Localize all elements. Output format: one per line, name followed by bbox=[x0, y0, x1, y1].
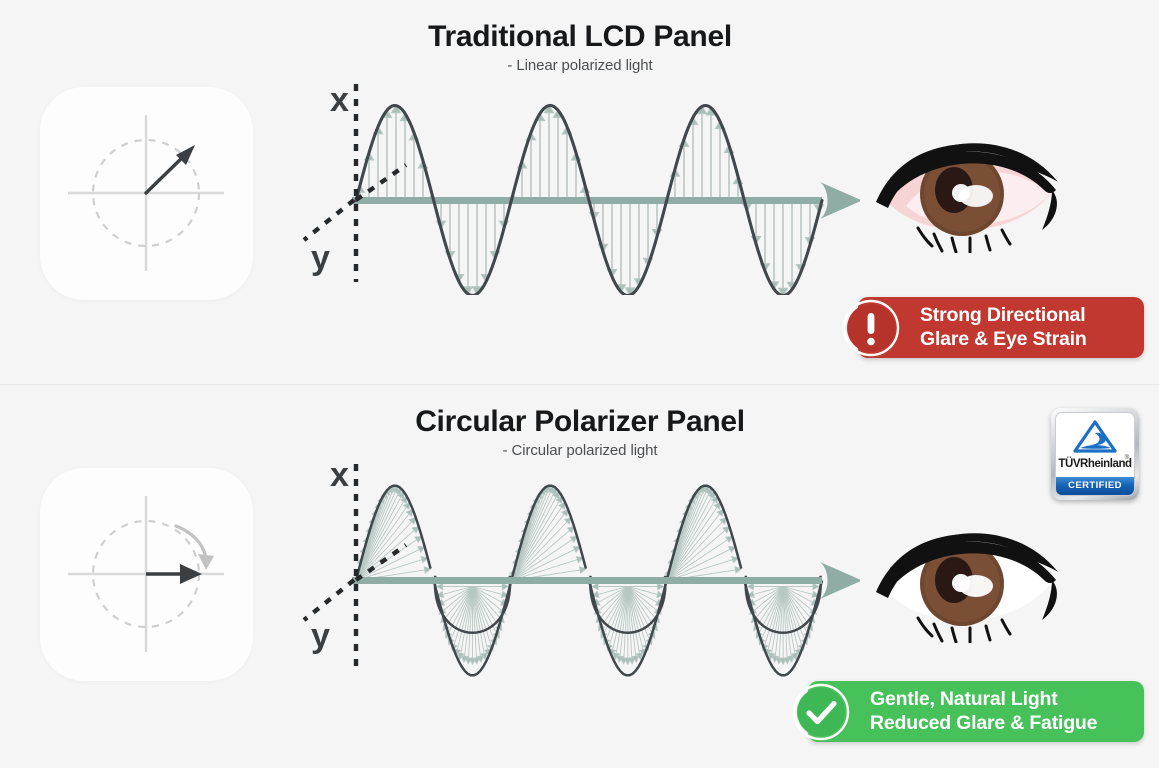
success-badge-line2: Reduced Glare & Fatigue bbox=[870, 712, 1097, 736]
axis-label-x-top: x bbox=[330, 83, 349, 117]
rotating-field-vectors bbox=[354, 486, 819, 665]
circular-wave-diagram bbox=[300, 460, 860, 690]
y-axis-dashed-line-left bbox=[304, 200, 354, 240]
linear-polarization-card bbox=[40, 87, 253, 300]
y-axis-dashed-line-left-2 bbox=[304, 580, 354, 620]
circular-polarization-card bbox=[40, 468, 253, 681]
panel-heading-bottom: Circular Polarizer Panel - Circular pola… bbox=[170, 405, 990, 459]
circular-polarization-icon bbox=[40, 468, 253, 681]
axis-label-x-bottom: x bbox=[330, 458, 349, 492]
tuv-rheinland-certified-badge[interactable]: TÜVRheinland ® CERTIFIED bbox=[1051, 408, 1139, 500]
healthy-eye-illustration bbox=[866, 518, 1066, 648]
certified-label: CERTIFIED bbox=[1056, 476, 1134, 495]
registered-mark: ® bbox=[1125, 455, 1129, 461]
page-subtitle: - Linear polarized light bbox=[170, 57, 990, 74]
linear-polarization-icon bbox=[40, 87, 253, 300]
panel-traditional-lcd: Traditional LCD Panel - Linear polarized… bbox=[0, 0, 1159, 385]
warning-badge-line1: Strong Directional bbox=[920, 304, 1087, 328]
axis-label-y-top: y bbox=[311, 241, 330, 275]
success-badge-line1: Gentle, Natural Light bbox=[870, 688, 1097, 712]
success-badge[interactable]: Gentle, Natural Light Reduced Glare & Fa… bbox=[808, 681, 1144, 742]
warning-badge[interactable]: Strong Directional Glare & Eye Strain bbox=[858, 297, 1144, 358]
page-subtitle-2: - Circular polarized light bbox=[170, 442, 990, 459]
page-title: Traditional LCD Panel bbox=[170, 20, 990, 53]
exclamation-circle-icon bbox=[842, 299, 900, 357]
axis-label-y-bottom: y bbox=[311, 619, 330, 653]
linear-wave-diagram bbox=[300, 80, 860, 300]
check-circle-icon bbox=[792, 683, 850, 741]
infographic-root: Traditional LCD Panel - Linear polarized… bbox=[0, 0, 1159, 768]
tuv-brand-text: TÜVRheinland bbox=[1058, 458, 1131, 470]
panel-heading-top: Traditional LCD Panel - Linear polarized… bbox=[170, 20, 990, 74]
panel-circular-polarizer: Circular Polarizer Panel - Circular pola… bbox=[0, 385, 1159, 768]
propagation-axis-arrow bbox=[352, 182, 860, 219]
warning-badge-line2: Glare & Eye Strain bbox=[920, 328, 1087, 352]
page-title-2: Circular Polarizer Panel bbox=[170, 405, 990, 438]
tuv-triangle-logo bbox=[1072, 420, 1118, 456]
strained-eye-illustration bbox=[866, 128, 1066, 258]
